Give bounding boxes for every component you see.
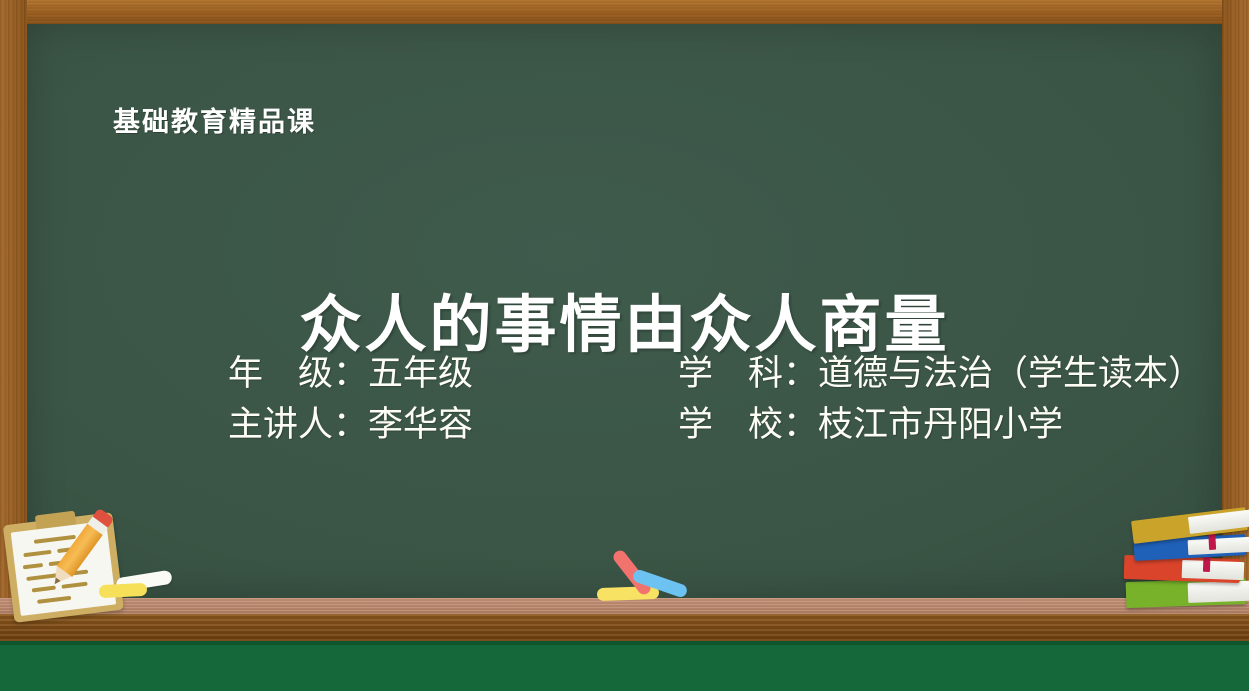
chalk-ledge-front — [0, 614, 1249, 641]
chalk-ledge-top — [0, 598, 1249, 614]
info-school: 学 校：枝江市丹阳小学 — [678, 407, 1238, 444]
page-title: 众人的事情由众人商量 — [0, 274, 1249, 364]
slide-canvas: 基础教育精品课 众人的事情由众人商量 年 级：五年级 学 科：道德与法治（学生读… — [0, 0, 1249, 691]
blackboard: 基础教育精品课 众人的事情由众人商量 年 级：五年级 学 科：道德与法治（学生读… — [0, 0, 1249, 641]
info-subject: 学 科：道德与法治（学生读本） — [678, 356, 1238, 393]
info-grade: 年 级：五年级 — [228, 356, 678, 393]
chalk-ledge-shadow — [0, 641, 1249, 645]
course-series-label: 基础教育精品课 — [113, 100, 316, 139]
info-presenter: 主讲人：李华容 — [228, 407, 678, 444]
frame-top-rail — [0, 0, 1249, 24]
lesson-info-grid: 年 级：五年级 学 科：道德与法治（学生读本） 主讲人：李华容 学 校：枝江市丹… — [228, 356, 1238, 444]
chalk-yellow-left-icon — [99, 583, 148, 598]
book-stack-icon — [1124, 505, 1249, 610]
